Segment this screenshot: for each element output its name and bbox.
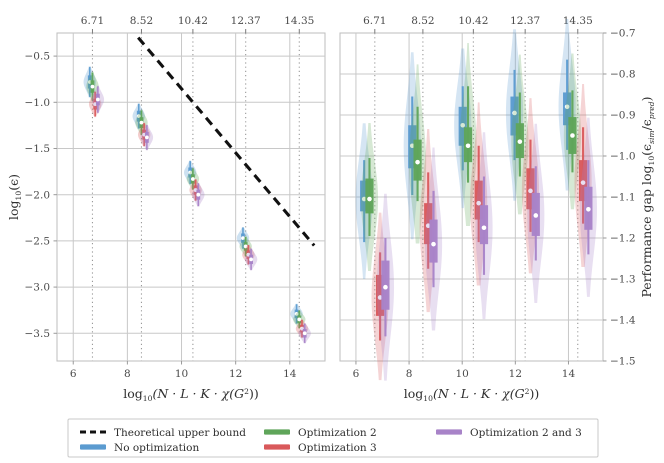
top-tick-label: 12.37 <box>510 15 540 27</box>
x-tick-label: 8 <box>406 368 413 380</box>
x-axis-label-right: log10(N · L · K · χ(G2)) <box>404 386 539 403</box>
y-tick-label: −2.5 <box>25 235 51 247</box>
top-tick-label: 14.35 <box>284 15 314 27</box>
median-point <box>367 197 372 202</box>
y-tick-label: −0.7 <box>610 28 636 40</box>
y-tick-label: −3.5 <box>25 328 51 340</box>
top-tick-label: 10.42 <box>178 15 208 27</box>
top-tick-label: 12.37 <box>231 15 261 27</box>
x-tick-label: 6 <box>353 368 360 380</box>
median-point <box>249 257 253 261</box>
median-point <box>482 225 487 230</box>
violin-box <box>365 179 373 214</box>
median-point <box>533 213 538 218</box>
legend-label: Optimization 3 <box>298 442 377 454</box>
violin-box <box>480 205 488 244</box>
legend-label: Optimization 2 <box>298 427 377 439</box>
y-axis-label-right-text: Performance gap log10(ϵsim/ϵpred) <box>639 96 656 297</box>
y-tick-label: −3.0 <box>25 282 51 294</box>
legend-label: No optimization <box>114 442 199 454</box>
top-tick-label: 6.71 <box>81 15 104 27</box>
y-tick-label: −0.5 <box>25 51 51 63</box>
legend-swatch <box>264 429 290 434</box>
legend-swatch <box>80 444 106 449</box>
legend-label: Optimization 2 and 3 <box>470 427 582 439</box>
y-axis-label-left: log10(ϵ) <box>6 174 23 220</box>
median-point <box>145 136 149 140</box>
legend: Theoretical upper boundNo optimizationOp… <box>68 419 598 457</box>
median-point <box>466 143 471 148</box>
y-tick-label: −1.5 <box>610 356 636 368</box>
median-point <box>303 331 307 335</box>
y-tick-label: −1.0 <box>610 151 636 163</box>
y-tick-label: −1.3 <box>610 274 636 286</box>
legend-swatch <box>436 429 462 434</box>
y-axis-label-right: Performance gap log10(ϵsim/ϵpred) <box>639 96 656 297</box>
top-tick-label: 10.42 <box>458 15 488 27</box>
violin-box <box>429 220 437 263</box>
x-tick-label: 8 <box>124 368 131 380</box>
top-tick-label: 8.52 <box>411 15 434 27</box>
x-tick-label: 10 <box>175 368 188 380</box>
figure-container: 681012146.718.5210.4212.3714.35−0.5−1.0−… <box>0 0 664 463</box>
y-tick-label: −2.0 <box>25 189 51 201</box>
y-tick-label: −1.5 <box>25 143 51 155</box>
median-point <box>586 207 591 212</box>
y-tick-label: −0.8 <box>610 69 636 81</box>
x-tick-label: 14 <box>283 368 297 380</box>
x-tick-label: 6 <box>70 368 77 380</box>
y-tick-label: −0.9 <box>610 110 636 122</box>
y-tick-label: −1.2 <box>610 233 636 245</box>
median-point <box>96 98 100 102</box>
y-axis-label-left-text: log10(ϵ) <box>6 174 23 220</box>
median-point <box>91 85 95 89</box>
median-point <box>570 133 575 138</box>
y-tick-label: −1.4 <box>610 315 636 327</box>
x-tick-label: 12 <box>509 368 522 380</box>
left-panel: 681012146.718.5210.4212.3714.35−0.5−1.0−… <box>25 15 326 380</box>
median-point <box>383 285 388 290</box>
median-point <box>415 160 420 165</box>
top-tick-label: 8.52 <box>130 15 153 27</box>
y-tick-label: −1.1 <box>610 192 636 204</box>
median-point <box>431 242 436 247</box>
x-tick-label: 10 <box>456 368 469 380</box>
legend-swatch <box>264 444 290 449</box>
legend-label: Theoretical upper bound <box>114 427 246 439</box>
y-tick-label: −1.0 <box>25 97 51 109</box>
x-tick-label: 12 <box>229 368 242 380</box>
x-tick-label: 14 <box>562 368 576 380</box>
top-tick-label: 6.71 <box>363 15 386 27</box>
median-point <box>196 193 200 197</box>
median-point <box>518 139 523 144</box>
x-axis-label-left: log10(N · L · K · χ(G2)) <box>123 386 258 403</box>
figure-svg: 681012146.718.5210.4212.3714.35−0.5−1.0−… <box>0 0 664 463</box>
